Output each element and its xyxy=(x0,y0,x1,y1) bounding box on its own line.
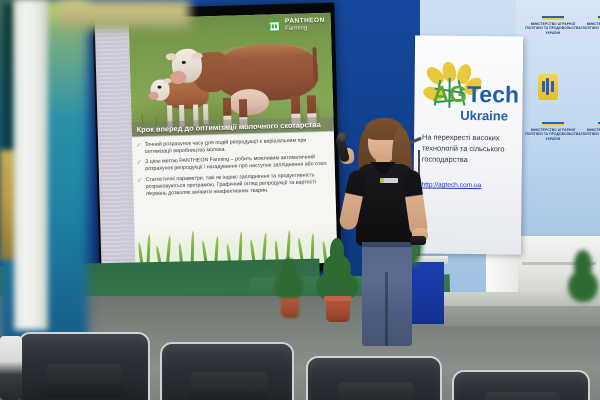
pantheon-farming-logo: PANTHEON Farming xyxy=(267,17,325,34)
speaker-jeans-seam xyxy=(385,272,388,346)
ukraine-flag-icon xyxy=(542,122,564,126)
potted-conifer xyxy=(566,250,600,322)
microphone-head-icon xyxy=(337,132,348,142)
check-icon: ✓ xyxy=(136,142,142,156)
slide-bullet: ✓ З цією метою PANTHEON Farming – робить… xyxy=(137,154,330,173)
ministry-backdrop-wall: МІНІСТЕРСТВО АГРАРНОЇ ПОЛІТИКИ ТА ПРОДОВ… xyxy=(516,0,600,240)
ministry-logo-block: МІНІСТЕРСТВО АГРАРНОЇ ПОЛІТИКИ ТА ПРОДОВ… xyxy=(522,122,584,141)
speaker-waistband xyxy=(362,242,412,247)
potted-conifer xyxy=(272,258,306,324)
ministry-label: МІНІСТЕРСТВО АГРАРНОЇ ПОЛІТИКИ ТА ПРОДОВ… xyxy=(578,128,600,141)
foreground-white-column xyxy=(14,0,48,330)
presentation-slide: PANTHEON Farming Крок вперед до оптиміза… xyxy=(129,13,338,269)
temple-icon xyxy=(267,18,282,33)
slide-bullet-text: Статистичні параметри, такі як індекс за… xyxy=(145,172,330,198)
check-icon: ✓ xyxy=(137,160,143,174)
conference-photo-scene: МІНІСТЕРСТВО АГРАРНОЇ ПОЛІТИКИ ТА ПРОДОВ… xyxy=(0,0,600,400)
slide-bullet-text: З цією метою PANTHEON Farming – робить м… xyxy=(145,154,330,173)
slide-bullet-text: Точний розрахунок часу для подій репроду… xyxy=(144,137,329,156)
ministry-logo-block: МІНІСТЕРСТВО АГРАРНОЇ ПОЛІТИКИ ТА ПРОДОВ… xyxy=(522,16,584,35)
cow-udder xyxy=(229,89,270,116)
pantheon-subtitle: Farming xyxy=(285,25,325,32)
ministry-logo-block: МІНІСТЕРСТВО АГРАРНОЇ ПОЛІТИКИ ТА ПРОДОВ… xyxy=(578,122,600,141)
cow-tail xyxy=(312,47,317,81)
slide-bullet: ✓ Статистичні параметри, такі як індекс … xyxy=(137,172,331,198)
agtech-word-ag: AG xyxy=(432,81,467,107)
ministry-label: МІНІСТЕРСТВО АГРАРНОЇ ПОЛІТИКИ ТА ПРОДОВ… xyxy=(578,22,600,35)
company-logo xyxy=(380,178,398,183)
audience-chair-edge xyxy=(0,336,22,400)
ministry-label: МІНІСТЕРСТВО АГРАРНОЇ ПОЛІТИКИ ТА ПРОДОВ… xyxy=(522,128,584,141)
slide-title: Крок вперед до оптимізації молочного ско… xyxy=(132,120,321,134)
agtech-word-tech: Tech xyxy=(467,81,519,108)
ukraine-trident-icon xyxy=(538,74,558,100)
ministry-logo-block: МІНІСТЕРСТВО АГРАРНОЇ ПОЛІТИКИ ТА ПРОДОВ… xyxy=(578,16,600,35)
agtech-word-ukraine: Ukraine xyxy=(460,108,508,123)
slide-bullet: ✓ Точний розрахунок часу для подій репро… xyxy=(136,137,329,156)
presentation-clicker xyxy=(410,236,426,245)
speaker-person xyxy=(336,112,442,342)
check-icon: ✓ xyxy=(137,177,143,198)
ukraine-flag-icon xyxy=(542,16,564,20)
ministry-label: МІНІСТЕРСТВО АГРАРНОЇ ПОЛІТИКИ ТА ПРОДОВ… xyxy=(522,22,584,35)
projection-screen: PANTHEON Farming Крок вперед до оптиміза… xyxy=(92,3,341,278)
agtech-wordmark: AGTech xyxy=(432,84,519,107)
ceiling-warm-light xyxy=(60,0,190,30)
slide-bullet-list: ✓ Точний розрахунок часу для подій репро… xyxy=(132,133,336,231)
